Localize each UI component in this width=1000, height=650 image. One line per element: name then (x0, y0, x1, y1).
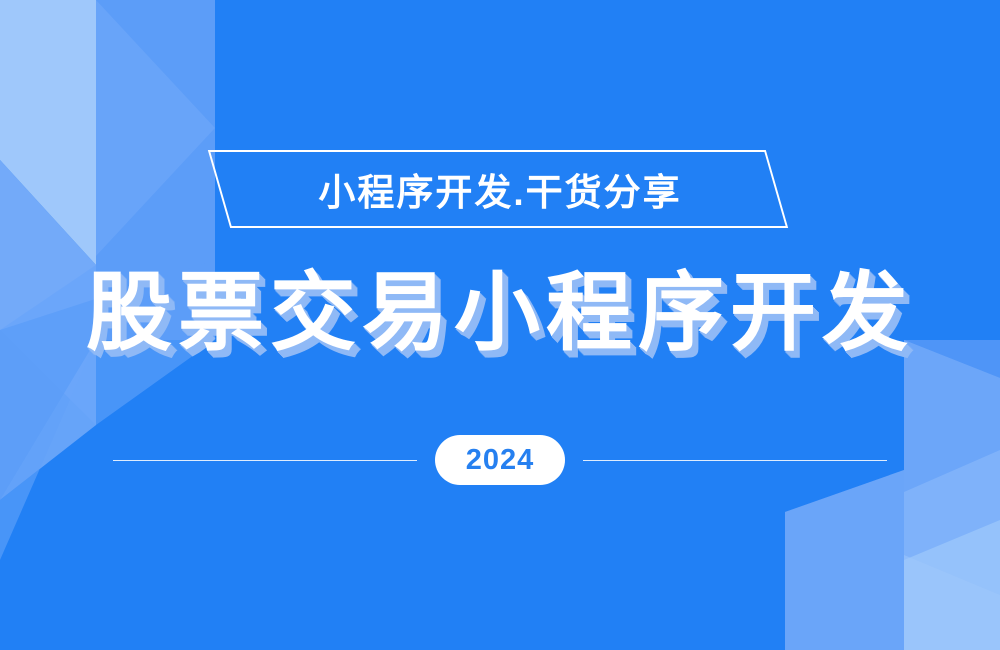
year-row: 2024 (0, 433, 1000, 487)
subtitle-text: 小程序开发.干货分享 (0, 150, 1000, 228)
banner-root: 小程序开发.干货分享 股票交易小程序开发 2024 (0, 0, 1000, 650)
year-badge: 2024 (435, 435, 565, 485)
divider-line-right (583, 460, 887, 461)
page-title: 股票交易小程序开发 (86, 270, 914, 356)
title-container: 股票交易小程序开发 (0, 258, 1000, 368)
banner-content: 小程序开发.干货分享 股票交易小程序开发 2024 (0, 0, 1000, 650)
divider-line-left (113, 460, 417, 461)
